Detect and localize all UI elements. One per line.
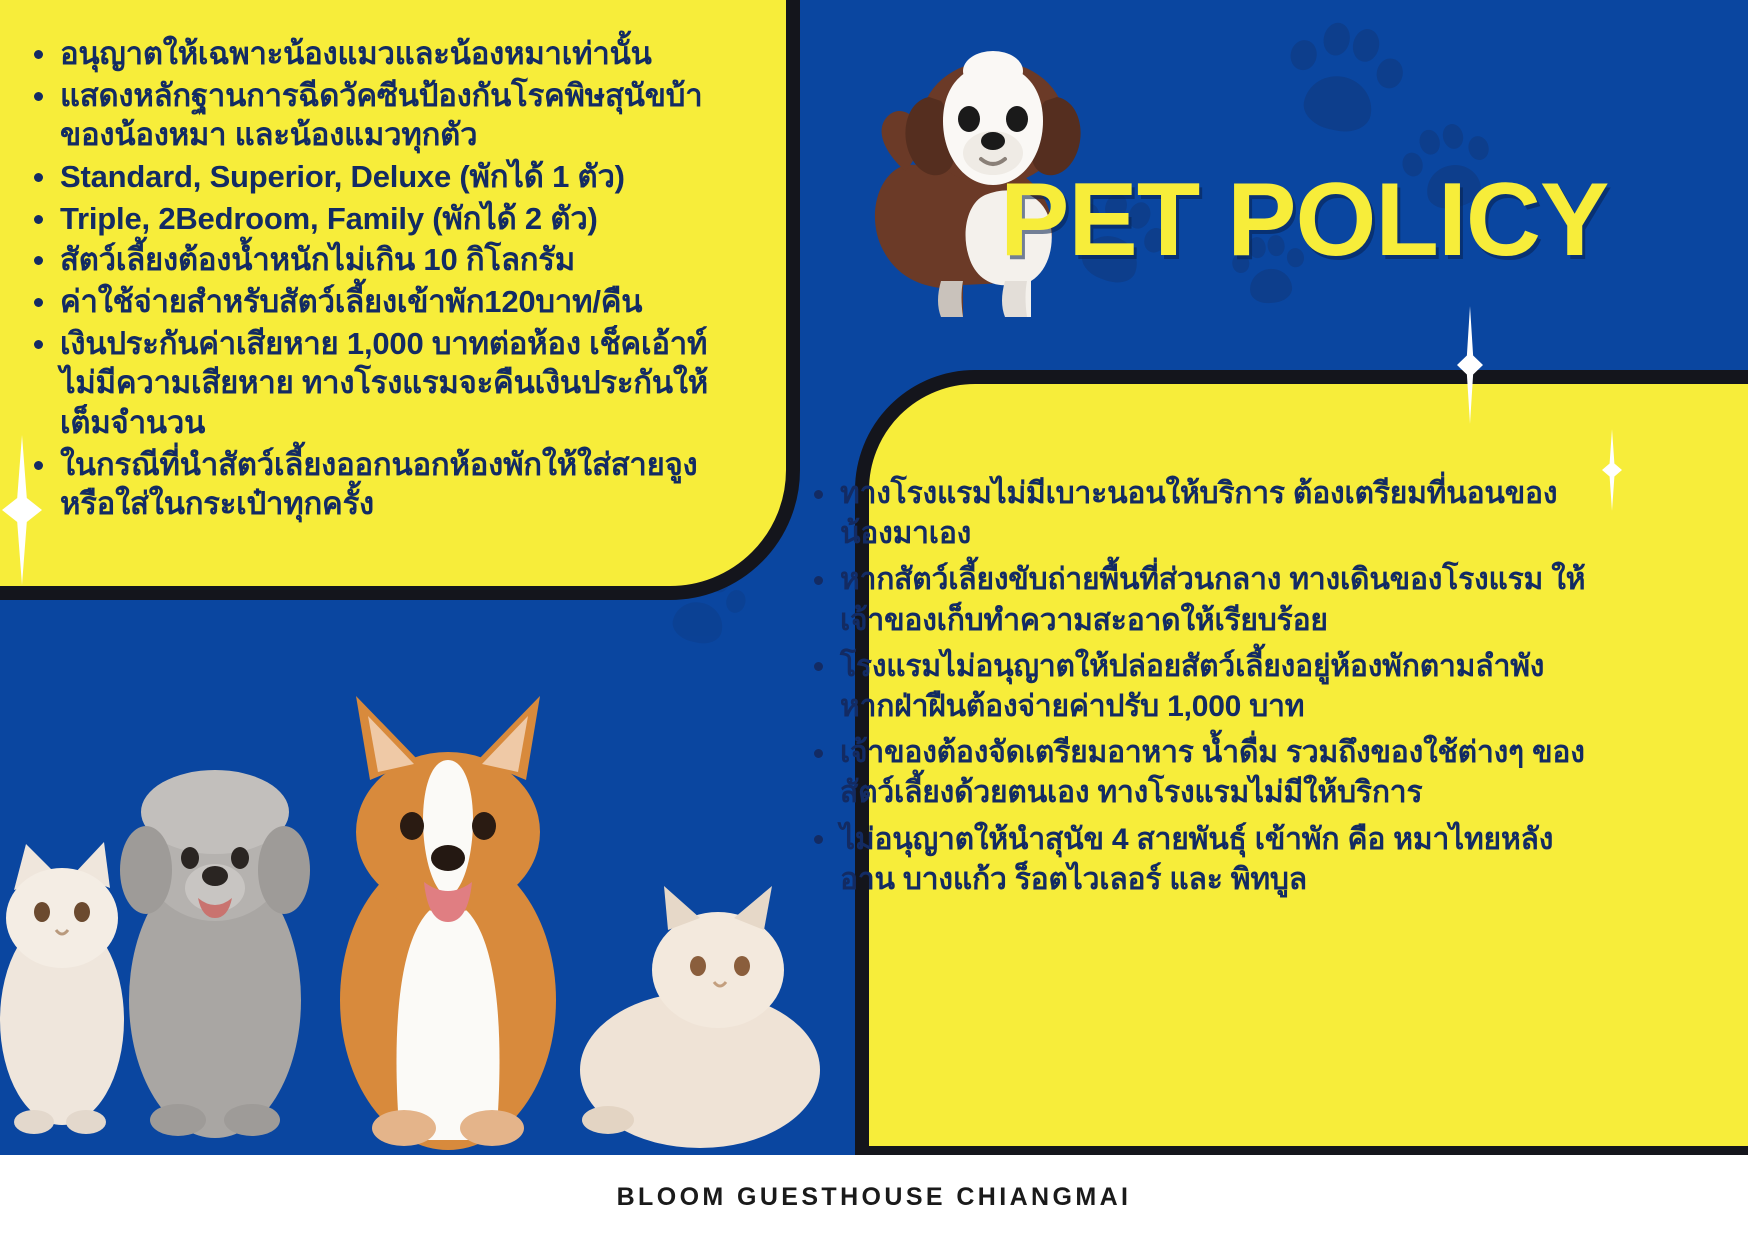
list-item: ในกรณีที่นำสัตว์เลี้ยงออกนอกห้องพักให้ใส…	[24, 445, 714, 524]
brand-name: BLOOM GUESTHOUSE CHIANGMAI	[617, 1183, 1132, 1212]
pets-photo-cat-poodle-corgi-cat	[0, 600, 840, 1155]
left-rules-panel: อนุญาตให้เฉพาะน้องแมวและน้องหมาเท่านั้น …	[0, 0, 800, 600]
left-rules-list: อนุญาตให้เฉพาะน้องแมวและน้องหมาเท่านั้น …	[24, 34, 714, 524]
list-item: เงินประกันค่าเสียหาย 1,000 บาทต่อห้อง เช…	[24, 324, 714, 443]
poster-canvas: อนุญาตให้เฉพาะน้องแมวและน้องหมาเท่านั้น …	[0, 0, 1748, 1155]
list-item: อนุญาตให้เฉพาะน้องแมวและน้องหมาเท่านั้น	[24, 34, 714, 74]
list-item: Standard, Superior, Deluxe (พักได้ 1 ตัว…	[24, 157, 714, 197]
paw-print-icon	[1274, 7, 1414, 147]
right-rules-panel: ทางโรงแรมไม่มีเบาะนอนให้บริการ ต้องเตรีย…	[855, 370, 1748, 1155]
list-item: สัตว์เลี้ยงต้องน้ำหนักไม่เกิน 10 กิโลกรั…	[24, 240, 714, 280]
list-item: โรงแรมไม่อนุญาตให้ปล่อยสัตว์เลี้ยงอยู่ห้…	[804, 647, 1604, 727]
list-item: ไม่อนุญาตให้นำสุนัข 4 สายพันธุ์ เข้าพัก …	[804, 820, 1604, 900]
list-item: ทางโรงแรมไม่มีเบาะนอนให้บริการ ต้องเตรีย…	[804, 474, 1604, 554]
footer-bar: BLOOM GUESTHOUSE CHIANGMAI	[0, 1155, 1748, 1240]
list-item: แสดงหลักฐานการฉีดวัคซีนป้องกันโรคพิษสุนั…	[24, 76, 714, 155]
list-item: เจ้าของต้องจัดเตรียมอาหาร น้ำดื่ม รวมถึง…	[804, 733, 1604, 813]
list-item: ค่าใช้จ่ายสำหรับสัตว์เลี้ยงเข้าพัก120บาท…	[24, 282, 714, 322]
pet-policy-poster: อนุญาตให้เฉพาะน้องแมวและน้องหมาเท่านั้น …	[0, 0, 1748, 1240]
list-item: Triple, 2Bedroom, Family (พักได้ 2 ตัว)	[24, 199, 714, 239]
list-item: หากสัตว์เลี้ยงขับถ่ายพื้นที่ส่วนกลาง ทาง…	[804, 560, 1604, 640]
right-rules-list: ทางโรงแรมไม่มีเบาะนอนให้บริการ ต้องเตรีย…	[804, 474, 1604, 900]
page-title: PET POLICY	[1000, 168, 1608, 272]
